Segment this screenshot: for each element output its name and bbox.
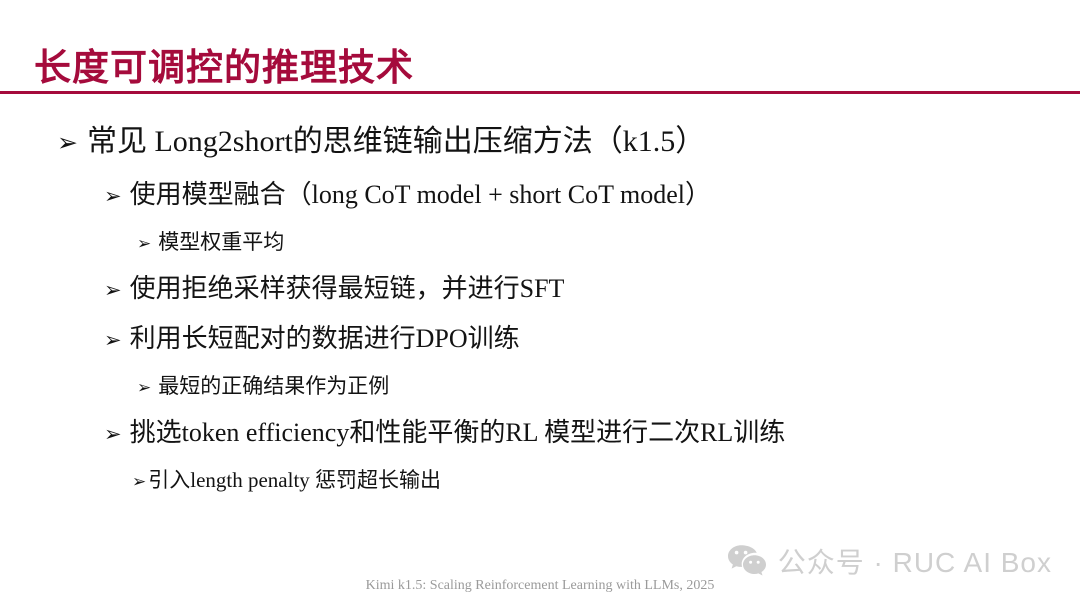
bullet-text: 引入length penalty 惩罚超长输出: [148, 463, 441, 497]
bullet-text: 挑选token efficiency和性能平衡的RL 模型进行二次RL训练: [130, 413, 786, 453]
bullet-item-level1: ➢ 常见 Long2short的思维链输出压缩方法（k1.5）: [0, 120, 1080, 164]
bullet-text: 最短的正确结果作为正例: [158, 369, 389, 403]
slide-body: ➢ 常见 Long2short的思维链输出压缩方法（k1.5） ➢ 使用模型融合…: [0, 120, 1080, 507]
arrow-bullet-icon: ➢: [137, 380, 151, 397]
arrow-bullet-icon: ➢: [57, 130, 78, 155]
arrow-bullet-icon: ➢: [104, 186, 122, 207]
bullet-item-level3: ➢ 模型权重平均: [0, 225, 1080, 259]
arrow-bullet-icon: ➢: [104, 424, 122, 445]
wechat-icon: [727, 544, 767, 578]
arrow-bullet-icon: ➢: [137, 236, 151, 253]
bullet-item-level2: ➢ 使用模型融合（long CoT model + short CoT mode…: [0, 175, 1080, 215]
watermark: 公众号 · RUC AI Box: [727, 541, 1052, 581]
bullet-text: 使用模型融合（long CoT model + short CoT model）: [130, 175, 711, 215]
bullet-text: 模型权重平均: [158, 225, 284, 259]
bullet-item-level3: ➢ 引入length penalty 惩罚超长输出: [0, 463, 1080, 497]
source-citation: Kimi k1.5: Scaling Reinforcement Learnin…: [0, 578, 1080, 594]
bullet-text: 使用拒绝采样获得最短链，并进行SFT: [130, 269, 565, 309]
bullet-item-level2: ➢ 使用拒绝采样获得最短链，并进行SFT: [0, 269, 1080, 309]
watermark-label: 公众号 · RUC AI Box: [778, 541, 1052, 581]
arrow-bullet-icon: ➢: [132, 474, 146, 491]
arrow-bullet-icon: ➢: [104, 280, 122, 301]
arrow-bullet-icon: ➢: [104, 330, 122, 351]
title-divider: [0, 91, 1080, 94]
bullet-item-level3: ➢ 最短的正确结果作为正例: [0, 369, 1080, 403]
presentation-slide: 长度可调控的推理技术 ➢ 常见 Long2short的思维链输出压缩方法（k1.…: [0, 0, 1080, 607]
page-title: 长度可调控的推理技术: [34, 42, 414, 94]
bullet-text: 利用长短配对的数据进行DPO训练: [130, 319, 520, 359]
bullet-item-level2: ➢ 利用长短配对的数据进行DPO训练: [0, 319, 1080, 359]
bullet-item-level2: ➢ 挑选token efficiency和性能平衡的RL 模型进行二次RL训练: [0, 413, 1080, 453]
bullet-text: 常见 Long2short的思维链输出压缩方法（k1.5）: [87, 120, 705, 164]
